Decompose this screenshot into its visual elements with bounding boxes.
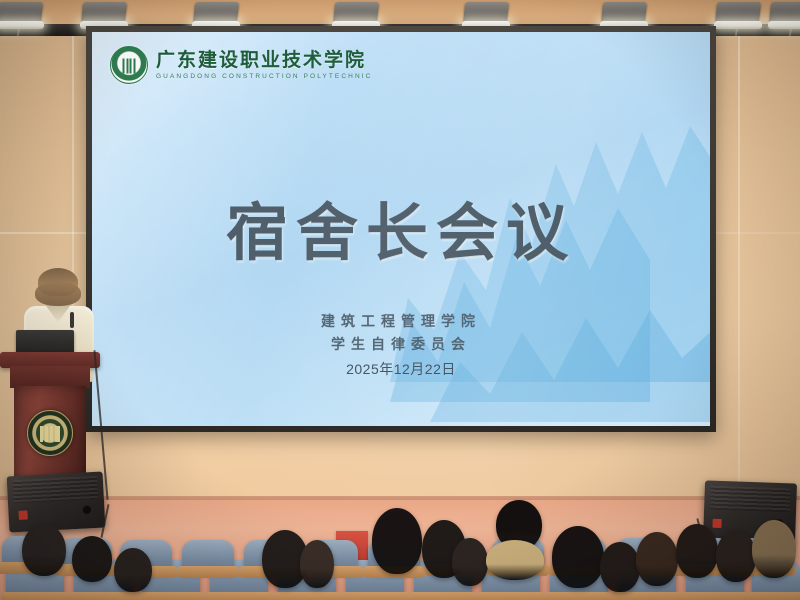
microphone-icon xyxy=(70,312,74,328)
audience-member xyxy=(676,524,718,578)
slide-subtitle-committee: 学生自律委员会 xyxy=(92,333,710,356)
projection-screen: 广东建设职业技术学院 GUANGDONG CONSTRUCTION POLYTE… xyxy=(86,26,716,432)
auditorium-scene: 广东建设职业技术学院 GUANGDONG CONSTRUCTION POLYTE… xyxy=(0,0,800,600)
audience-member xyxy=(752,520,796,578)
audience-member xyxy=(716,530,756,582)
audience-member xyxy=(114,548,152,592)
presentation-slide: 广东建设职业技术学院 GUANGDONG CONSTRUCTION POLYTE… xyxy=(92,32,710,426)
university-crest-icon xyxy=(110,46,148,84)
slide-subtitle-department: 建筑工程管理学院 xyxy=(92,310,710,333)
pa-speaker-icon xyxy=(7,472,106,533)
audience-member xyxy=(72,536,112,582)
stage-light-icon xyxy=(712,2,764,32)
slide-date: 2025年12月22日 xyxy=(92,358,710,382)
school-crest-icon xyxy=(27,410,73,456)
university-name-en: GUANGDONG CONSTRUCTION POLYTECHNIC xyxy=(156,73,372,80)
stage-light-icon xyxy=(0,2,46,32)
audience-seat xyxy=(182,540,234,574)
audience-member xyxy=(636,532,678,586)
audience-member xyxy=(22,524,66,576)
slide-logo: 广东建设职业技术学院 GUANGDONG CONSTRUCTION POLYTE… xyxy=(110,46,372,84)
audience-member xyxy=(452,538,488,586)
stage-light-icon xyxy=(766,2,800,32)
university-name-cn: 广东建设职业技术学院 xyxy=(156,51,372,70)
wall-seam xyxy=(738,0,740,530)
audience-member xyxy=(552,526,604,588)
audience-member xyxy=(600,542,640,592)
audience-member xyxy=(486,540,544,580)
audience-member xyxy=(300,540,334,588)
audience-member xyxy=(372,508,422,574)
slide-subtitle-block: 建筑工程管理学院 学生自律委员会 2025年12月22日 xyxy=(92,310,710,382)
slide-title: 宿舍长会议 xyxy=(92,182,710,272)
